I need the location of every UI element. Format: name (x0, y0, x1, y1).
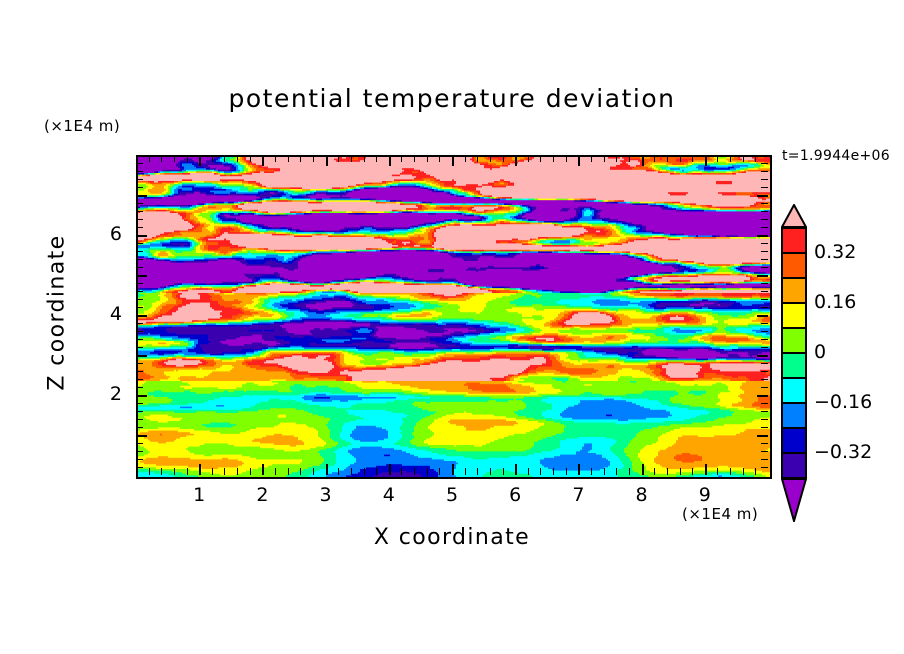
y-tick-minor (136, 291, 143, 292)
colorbar-tick-label: −0.16 (814, 391, 872, 413)
colorbar-cap-top (781, 204, 807, 228)
y-tick-minor (136, 459, 143, 460)
x-tick-minor-top (364, 155, 365, 162)
x-tick-minor (553, 468, 554, 475)
x-tick-major (389, 464, 391, 475)
x-tick-minor (250, 468, 251, 475)
contour-field (138, 157, 770, 477)
x-tick-minor-top (338, 155, 339, 162)
y-tick-minor-right (761, 283, 768, 284)
y-tick-minor-right (761, 451, 768, 452)
y-tick-minor-right (761, 419, 768, 420)
y-axis-title: Z coordinate (45, 223, 70, 403)
y-tick-minor (136, 299, 143, 300)
page-title: potential temperature deviation (0, 84, 904, 113)
x-tick-minor-top (300, 155, 301, 162)
x-tick-minor (566, 468, 567, 475)
colorbar-swatch (781, 253, 807, 278)
x-tick-minor-top (667, 155, 668, 162)
y-tick-minor (136, 243, 143, 244)
y-tick-minor-right (761, 259, 768, 260)
y-tick-major (136, 195, 147, 197)
y-tick-minor (136, 331, 143, 332)
x-tick-minor-top (174, 155, 175, 162)
y-tick-minor (136, 427, 143, 428)
x-tick-minor-top (528, 155, 529, 162)
x-tick-minor-top (465, 155, 466, 162)
y-tick-minor-right (761, 227, 768, 228)
colorbar (781, 228, 807, 478)
x-tick-minor-top (187, 155, 188, 162)
x-tick-minor (667, 468, 668, 475)
x-tick-minor-top (730, 155, 731, 162)
colorbar-swatch (781, 453, 807, 478)
x-tick-major (515, 464, 517, 475)
y-tick-minor (136, 203, 143, 204)
y-tick-major (136, 355, 147, 357)
colorbar-swatch (781, 278, 807, 303)
x-tick-minor (427, 468, 428, 475)
x-tick-minor (224, 468, 225, 475)
x-tick-minor-top (439, 155, 440, 162)
x-tick-minor-top (616, 155, 617, 162)
y-tick-major-right (757, 315, 768, 317)
y-axis-unit-label: (×1E4 m) (44, 117, 120, 135)
x-tick-minor (351, 468, 352, 475)
x-tick-minor (680, 468, 681, 475)
y-tick-minor (136, 259, 143, 260)
x-tick-major-top (389, 155, 391, 166)
x-tick-major-top (578, 155, 580, 166)
y-tick-minor (136, 419, 143, 420)
colorbar-tick-label: 0.16 (814, 291, 856, 313)
y-tick-minor-right (761, 251, 768, 252)
x-tick-minor-top (755, 155, 756, 162)
y-tick-minor-right (761, 411, 768, 412)
colorbar-swatch (781, 303, 807, 328)
x-tick-label: 7 (558, 484, 598, 506)
y-tick-minor (136, 443, 143, 444)
x-tick-minor-top (275, 155, 276, 162)
x-tick-minor-top (414, 155, 415, 162)
x-tick-minor (174, 468, 175, 475)
x-tick-minor (187, 468, 188, 475)
x-tick-major-top (326, 155, 328, 166)
y-tick-minor-right (761, 467, 768, 468)
x-tick-major (642, 464, 644, 475)
y-tick-minor-right (761, 379, 768, 380)
y-tick-label: 6 (82, 223, 122, 245)
x-tick-minor-top (692, 155, 693, 162)
x-tick-minor (629, 468, 630, 475)
y-tick-minor (136, 283, 143, 284)
y-tick-minor (136, 187, 143, 188)
y-tick-minor (136, 347, 143, 348)
x-tick-major-top (199, 155, 201, 166)
x-tick-minor-top (553, 155, 554, 162)
y-tick-minor-right (761, 291, 768, 292)
y-tick-minor (136, 219, 143, 220)
x-tick-minor-top (376, 155, 377, 162)
x-tick-minor (730, 468, 731, 475)
y-tick-minor-right (761, 187, 768, 188)
x-tick-major-top (705, 155, 707, 166)
time-annotation: t=1.9944e+06 (782, 148, 890, 164)
y-tick-label: 4 (82, 303, 122, 325)
x-tick-minor (591, 468, 592, 475)
x-tick-minor-top (427, 155, 428, 162)
y-tick-major-right (757, 235, 768, 237)
x-tick-minor-top (313, 155, 314, 162)
x-tick-major-top (515, 155, 517, 166)
y-tick-minor (136, 323, 143, 324)
colorbar-tick-label: 0 (814, 341, 826, 363)
y-tick-minor-right (761, 163, 768, 164)
y-tick-minor-right (761, 347, 768, 348)
y-tick-minor-right (761, 387, 768, 388)
x-tick-minor (376, 468, 377, 475)
y-tick-minor (136, 171, 143, 172)
x-tick-major (705, 464, 707, 475)
y-tick-minor-right (761, 299, 768, 300)
x-tick-minor-top (224, 155, 225, 162)
x-tick-minor (439, 468, 440, 475)
y-tick-major (136, 435, 147, 437)
x-tick-minor-top (161, 155, 162, 162)
x-tick-minor-top (654, 155, 655, 162)
x-tick-minor-top (743, 155, 744, 162)
x-tick-label: 5 (432, 484, 472, 506)
x-tick-major-top (452, 155, 454, 166)
y-tick-minor (136, 179, 143, 180)
y-tick-minor-right (761, 459, 768, 460)
colorbar-cap-bottom (781, 478, 807, 522)
x-tick-minor-top (604, 155, 605, 162)
x-tick-minor (654, 468, 655, 475)
y-tick-minor-right (761, 203, 768, 204)
colorbar-swatch (781, 378, 807, 403)
x-tick-label: 8 (622, 484, 662, 506)
x-tick-major (578, 464, 580, 475)
colorbar-tick-label: 0.32 (814, 241, 856, 263)
x-tick-minor (717, 468, 718, 475)
y-tick-major (136, 395, 147, 397)
y-tick-minor (136, 403, 143, 404)
x-tick-major (199, 464, 201, 475)
colorbar-swatch (781, 353, 807, 378)
y-tick-minor-right (761, 363, 768, 364)
x-tick-minor-top (680, 155, 681, 162)
x-axis-unit-label: (×1E4 m) (682, 505, 758, 523)
x-tick-minor (692, 468, 693, 475)
colorbar-tick-label: −0.32 (814, 441, 872, 463)
y-tick-minor (136, 307, 143, 308)
y-tick-major (136, 315, 147, 317)
y-tick-major-right (757, 435, 768, 437)
x-tick-minor-top (629, 155, 630, 162)
y-tick-minor (136, 467, 143, 468)
colorbar-swatch (781, 403, 807, 428)
y-tick-minor (136, 251, 143, 252)
colorbar-swatch (781, 228, 807, 253)
x-tick-minor-top (401, 155, 402, 162)
y-tick-major-right (757, 275, 768, 277)
y-tick-major-right (757, 355, 768, 357)
x-tick-minor (300, 468, 301, 475)
y-tick-minor (136, 267, 143, 268)
x-tick-minor (313, 468, 314, 475)
x-tick-major (262, 464, 264, 475)
x-tick-minor (237, 468, 238, 475)
x-tick-label: 2 (242, 484, 282, 506)
x-tick-minor-top (566, 155, 567, 162)
x-tick-minor-top (477, 155, 478, 162)
y-tick-major (136, 235, 147, 237)
y-tick-minor (136, 163, 143, 164)
y-tick-minor-right (761, 219, 768, 220)
y-tick-minor (136, 363, 143, 364)
y-tick-minor-right (761, 427, 768, 428)
x-tick-minor (540, 468, 541, 475)
x-tick-minor (490, 468, 491, 475)
x-tick-minor (604, 468, 605, 475)
y-tick-major-right (757, 195, 768, 197)
y-tick-minor (136, 451, 143, 452)
x-tick-minor (743, 468, 744, 475)
x-tick-minor-top (212, 155, 213, 162)
x-tick-minor (288, 468, 289, 475)
x-tick-minor-top (237, 155, 238, 162)
x-tick-minor (212, 468, 213, 475)
y-tick-minor-right (761, 403, 768, 404)
x-tick-minor (414, 468, 415, 475)
x-tick-label: 9 (685, 484, 725, 506)
y-tick-minor (136, 371, 143, 372)
x-tick-label: 3 (306, 484, 346, 506)
y-tick-label: 2 (82, 383, 122, 405)
x-axis-title: X coordinate (136, 525, 768, 550)
x-tick-major (326, 464, 328, 475)
x-tick-minor (338, 468, 339, 475)
x-tick-minor-top (288, 155, 289, 162)
x-tick-major (452, 464, 454, 475)
x-tick-minor-top (717, 155, 718, 162)
x-tick-minor-top (591, 155, 592, 162)
y-tick-minor (136, 339, 143, 340)
y-tick-minor-right (761, 171, 768, 172)
colorbar-swatch (781, 328, 807, 353)
colorbar-swatch (781, 428, 807, 453)
y-tick-major (136, 275, 147, 277)
x-tick-minor (528, 468, 529, 475)
x-tick-minor-top (503, 155, 504, 162)
x-tick-minor (465, 468, 466, 475)
y-tick-minor (136, 387, 143, 388)
x-tick-minor-top (540, 155, 541, 162)
y-tick-minor (136, 411, 143, 412)
y-tick-minor-right (761, 243, 768, 244)
y-tick-minor-right (761, 331, 768, 332)
y-tick-minor (136, 227, 143, 228)
y-tick-minor (136, 379, 143, 380)
x-tick-major-top (642, 155, 644, 166)
x-tick-minor (503, 468, 504, 475)
y-tick-minor-right (761, 211, 768, 212)
y-tick-minor-right (761, 307, 768, 308)
x-tick-minor (161, 468, 162, 475)
x-tick-minor-top (149, 155, 150, 162)
contour-plot-area (136, 155, 772, 479)
x-tick-label: 6 (495, 484, 535, 506)
y-tick-minor-right (761, 323, 768, 324)
x-tick-minor-top (490, 155, 491, 162)
y-tick-minor-right (761, 443, 768, 444)
x-tick-label: 4 (369, 484, 409, 506)
y-tick-minor-right (761, 339, 768, 340)
x-tick-minor (275, 468, 276, 475)
x-tick-minor (755, 468, 756, 475)
y-tick-major-right (757, 395, 768, 397)
y-tick-minor-right (761, 267, 768, 268)
x-tick-label: 1 (179, 484, 219, 506)
x-tick-minor-top (351, 155, 352, 162)
x-tick-major-top (262, 155, 264, 166)
x-tick-minor (401, 468, 402, 475)
x-tick-minor (149, 468, 150, 475)
y-tick-minor-right (761, 179, 768, 180)
y-tick-minor-right (761, 371, 768, 372)
x-tick-minor-top (250, 155, 251, 162)
x-tick-minor (477, 468, 478, 475)
y-tick-minor (136, 211, 143, 212)
x-tick-minor (616, 468, 617, 475)
x-tick-minor (364, 468, 365, 475)
